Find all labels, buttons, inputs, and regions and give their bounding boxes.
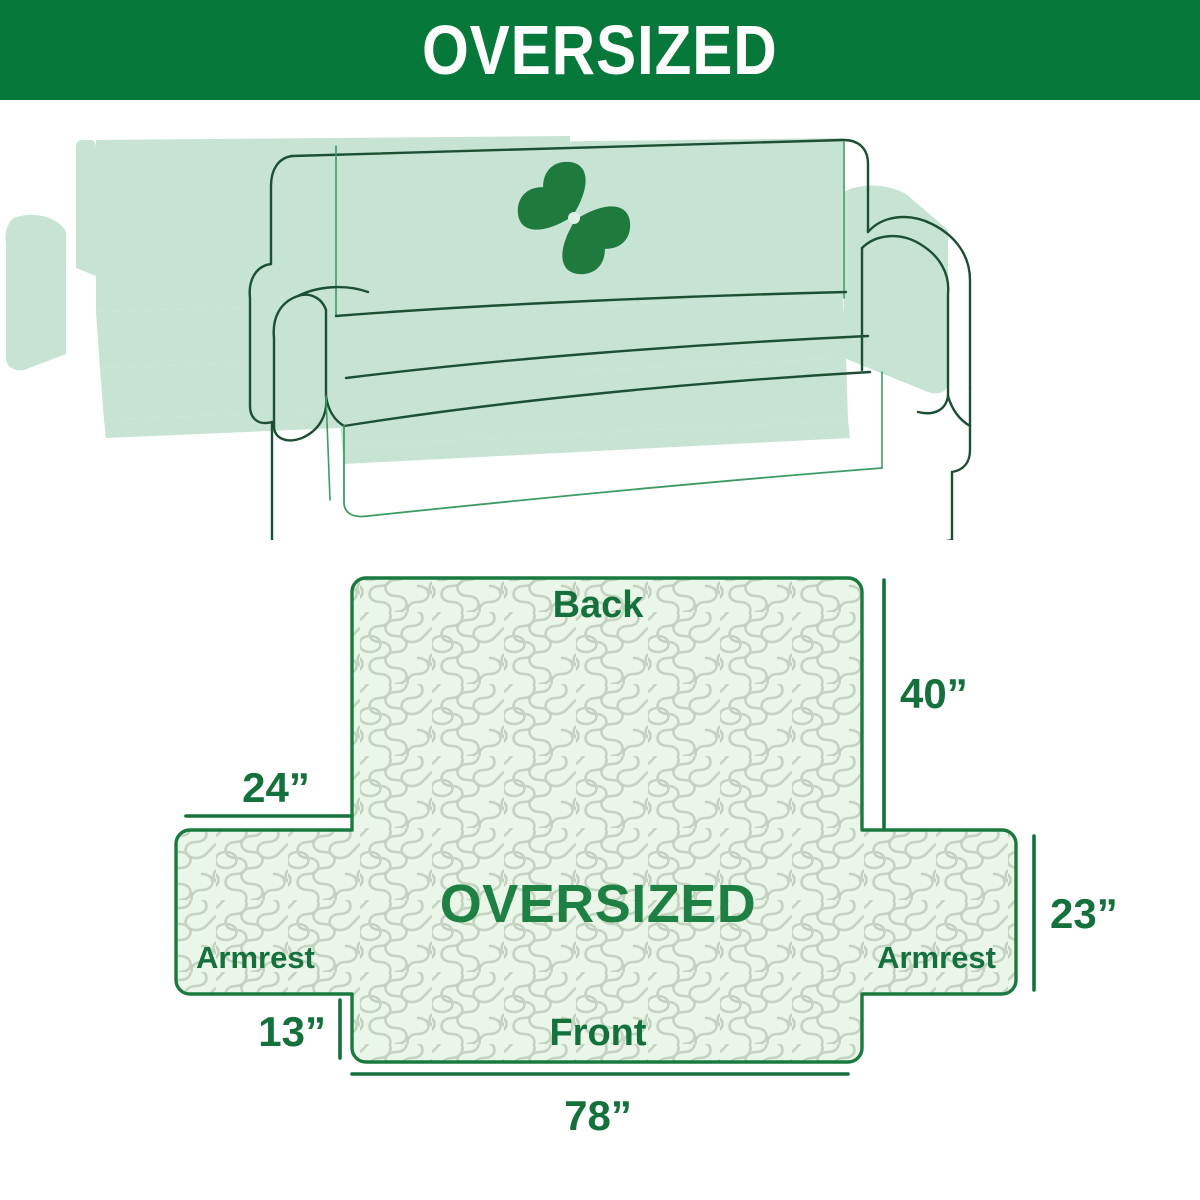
panel-label-front: Front xyxy=(549,1012,646,1054)
sofa-outline-group xyxy=(250,138,970,540)
dimension-value-23: 23” xyxy=(1050,890,1118,937)
dimension-value-78: 78” xyxy=(564,1092,632,1139)
diagram-center-label: OVERSIZED xyxy=(440,874,757,934)
dimension-value-13: 13” xyxy=(258,1008,326,1055)
flat-layout-diagram: Back Front Armrest Armrest OVERSIZED 40”… xyxy=(0,540,1200,1200)
sofa-illustration xyxy=(0,100,1200,540)
dimension-value-24: 24” xyxy=(242,764,310,811)
fan-hub xyxy=(568,212,580,224)
page-title: OVERSIZED xyxy=(422,15,778,85)
layout-svg: Back Front Armrest Armrest OVERSIZED 40”… xyxy=(0,540,1200,1200)
sofa-drawing xyxy=(0,100,1200,540)
header-banner: OVERSIZED xyxy=(0,0,1200,100)
dimension-value-40: 40” xyxy=(900,670,968,717)
cover-cross-shape xyxy=(176,578,1016,1062)
panel-label-back: Back xyxy=(553,584,645,626)
panel-label-armrest-left: Armrest xyxy=(196,940,315,975)
panel-label-armrest-right: Armrest xyxy=(877,940,996,975)
